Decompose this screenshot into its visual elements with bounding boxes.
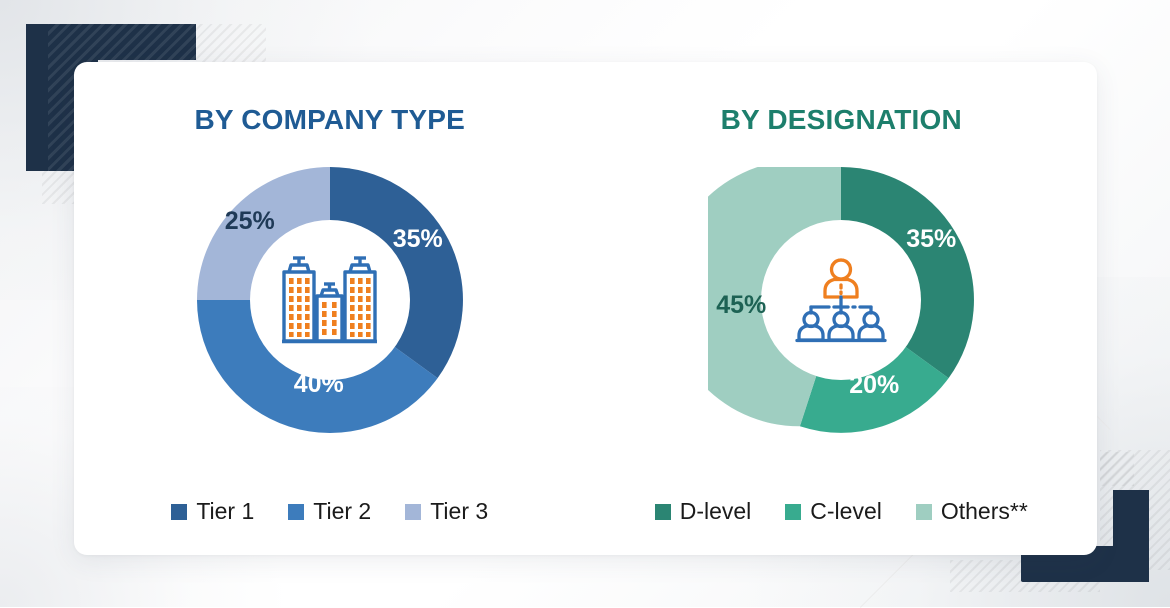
donut-chart-designation[interactable]: 35% 20% 45% <box>708 167 974 433</box>
hatched-block-left-lower <box>42 168 74 204</box>
legend-label-c-level: C-level <box>810 500 882 523</box>
legend-swatch-icon-tier-2 <box>288 504 304 520</box>
legend-label-tier-2: Tier 2 <box>313 500 371 523</box>
hatched-block-right-upper <box>1100 452 1134 486</box>
legend-label-d-level: D-level <box>680 500 752 523</box>
panel-title-designation: BY DESIGNATION <box>586 104 1098 136</box>
panel-designation: BY DESIGNATION 35% 20% 45% <box>586 62 1098 555</box>
legend-item-others[interactable]: Others** <box>916 500 1028 523</box>
decorative-background: BY COMPANY TYPE 35% 40% 25% <box>0 0 1170 607</box>
legend-item-c-level[interactable]: C-level <box>785 500 882 523</box>
legend-item-tier-2[interactable]: Tier 2 <box>288 500 371 523</box>
legend-swatch-icon-tier-3 <box>405 504 421 520</box>
legend-label-tier-1: Tier 1 <box>196 500 254 523</box>
legend-label-others: Others** <box>941 500 1028 523</box>
legend-item-tier-3[interactable]: Tier 3 <box>405 500 488 523</box>
legend-swatch-icon-d-level <box>655 504 671 520</box>
legend-swatch-icon-c-level <box>785 504 801 520</box>
legend-item-d-level[interactable]: D-level <box>655 500 752 523</box>
org-chart-people-icon <box>789 254 893 346</box>
panel-company-type: BY COMPANY TYPE 35% 40% 25% <box>74 62 586 555</box>
legend-designation: D-level C-level Others** <box>586 500 1098 523</box>
donut-chart-company-type[interactable]: 35% 40% 25% <box>197 167 463 433</box>
panel-title-company-type: BY COMPANY TYPE <box>74 104 586 136</box>
legend-item-tier-1[interactable]: Tier 1 <box>171 500 254 523</box>
legend-company-type: Tier 1 Tier 2 Tier 3 <box>74 500 586 523</box>
legend-swatch-icon-others <box>916 504 932 520</box>
content-card: BY COMPANY TYPE 35% 40% 25% <box>74 62 1097 555</box>
legend-label-tier-3: Tier 3 <box>430 500 488 523</box>
office-buildings-icon <box>275 252 385 348</box>
legend-swatch-icon-tier-1 <box>171 504 187 520</box>
